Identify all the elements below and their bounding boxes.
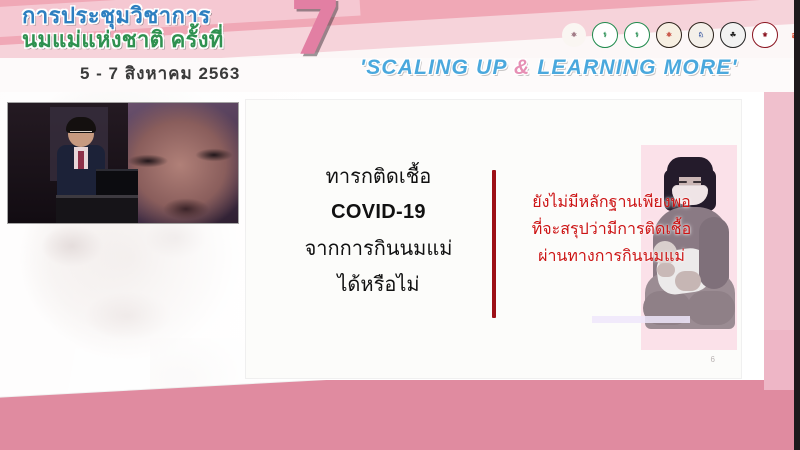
slide-red-divider	[492, 170, 496, 318]
speaker-video-feed[interactable]	[8, 103, 238, 223]
conference-edition-number: 7	[289, 0, 342, 66]
question-line-3: จากการกินนมแม่	[286, 230, 471, 266]
speaker-laptop	[96, 169, 138, 197]
bottom-pink-band	[0, 380, 800, 450]
slide-question: ทารกติดเชื้อ COVID-19 จากการกินนมแม่ ได้…	[286, 158, 471, 302]
answer-line-3: ผ่านทางการกินนมแม่	[504, 242, 719, 269]
organization-logos: ⚛ ⚕ ⚕ ⚛ ♘ ☘ ⚜ สสส	[562, 22, 794, 48]
logo-thai-breastfeeding-icon: ⚛	[656, 22, 682, 48]
conference-title: การประชุมวิชาการ นมแม่แห่งชาติ ครั้งที่	[22, 3, 302, 53]
speaker-glasses-icon	[70, 131, 92, 137]
slide-answer: ยังไม่มีหลักฐานเพียงพอ ที่จะสรุปว่ามีการ…	[504, 188, 719, 269]
logo-nursing-council-icon: ⚜	[752, 22, 778, 48]
logo-dept-health-icon: ⚕	[624, 22, 650, 48]
tagline-part-2: LEARNING MORE'	[530, 56, 737, 79]
bottom-pink-band-main	[0, 380, 800, 450]
conference-tagline: 'SCALING UP & LEARNING MORE'	[360, 56, 738, 80]
slide-number: 6	[711, 355, 715, 364]
speaker-tie	[78, 151, 84, 169]
conference-title-line1: การประชุมวิชาการ	[22, 3, 302, 29]
logo-royal-emblem-icon: ⚛	[562, 23, 586, 47]
speaker-podium	[56, 195, 138, 223]
slide-screenshot: การประชุมวิชาการ นมแม่แห่งชาติ ครั้งที่ …	[0, 0, 800, 450]
answer-line-2: ที่จะสรุปว่ามีการติดเชื้อ	[504, 215, 719, 242]
slide-highlight-strip	[592, 316, 690, 323]
logo-royal-college-icon: ♘	[688, 22, 714, 48]
answer-line-1: ยังไม่มีหลักฐานเพียงพอ	[504, 188, 719, 215]
mother-eye-right	[693, 181, 702, 183]
logo-ministry-public-health-icon: ⚕	[592, 22, 618, 48]
logo-thaihealth-sss-icon: สสส	[784, 23, 794, 47]
mother-eye-left	[678, 181, 687, 183]
presentation-slide: ทารกติดเชื้อ COVID-19 จากการกินนมแม่ ได้…	[246, 100, 741, 378]
question-line-1: ทารกติดเชื้อ	[286, 158, 471, 194]
mother-hand	[675, 271, 701, 291]
right-strip-lower	[764, 330, 794, 390]
tagline-part-1: 'SCALING UP	[360, 56, 514, 79]
conference-header: การประชุมวิชาการ นมแม่แห่งชาติ ครั้งที่ …	[0, 0, 794, 92]
question-line-4: ได้หรือไม่	[286, 266, 471, 302]
tagline-ampersand: &	[514, 56, 530, 79]
screen-right-edge	[794, 0, 800, 450]
conference-date: 5 - 7 สิงหาคม 2563	[80, 60, 240, 87]
logo-pediatric-society-icon: ☘	[720, 22, 746, 48]
question-line-2: COVID-19	[286, 194, 471, 230]
illustration-base	[641, 332, 737, 350]
conference-title-line2: นมแม่แห่งชาติ ครั้งที่	[22, 27, 302, 53]
mother-leg-right	[687, 291, 735, 325]
